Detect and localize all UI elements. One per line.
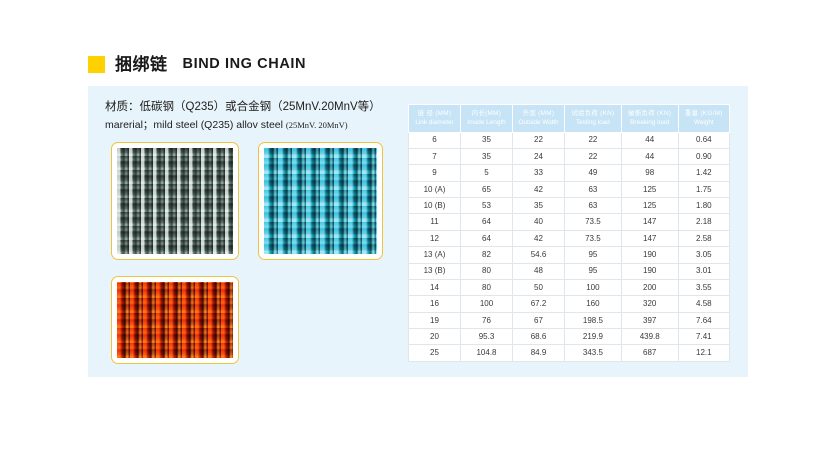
table-cell: 1.42 [678, 165, 729, 181]
table-cell: 0.90 [678, 148, 729, 164]
table-cell: 49 [565, 165, 622, 181]
table-column-header-0: 链 径 (MM)Link diameter [409, 105, 461, 133]
chain-texture [117, 148, 233, 254]
table-cell: 35 [461, 132, 513, 148]
material-spec-en-main: marerial；mild steel (Q235) allov steel [105, 119, 286, 131]
table-cell: 3.55 [678, 279, 729, 295]
table-column-header-en: Tesling load [566, 118, 620, 127]
table-cell: 190 [621, 263, 678, 279]
table-cell: 160 [565, 296, 622, 312]
table-cell: 95 [565, 263, 622, 279]
table-cell: 80 [461, 279, 513, 295]
table-cell: 2.58 [678, 230, 729, 246]
table-header-row: 链 径 (MM)Link diameter内长(MM)Inside Length… [409, 105, 730, 133]
table-cell: 20 [409, 329, 461, 345]
table-row: 13 (A)8254.6951903.05 [409, 247, 730, 263]
table-cell: 687 [621, 345, 678, 361]
table-cell: 98 [621, 165, 678, 181]
table-column-header-2: 外宽 (MM)Outside Width [513, 105, 565, 133]
table-cell: 44 [621, 132, 678, 148]
table-cell: 3.01 [678, 263, 729, 279]
table-column-header-cn: 试验负荷 (KN) [566, 109, 620, 118]
table-cell: 397 [621, 312, 678, 328]
table-cell: 67.2 [513, 296, 565, 312]
galvanized-chain-photo [111, 142, 239, 260]
table-column-header-en: Link diameter [410, 118, 459, 127]
table-cell: 7.64 [678, 312, 729, 328]
table-cell: 42 [513, 181, 565, 197]
specification-table-head: 链 径 (MM)Link diameter内长(MM)Inside Length… [409, 105, 730, 133]
table-row: 197667198.53977.64 [409, 312, 730, 328]
table-cell: 95 [565, 247, 622, 263]
table-row: 25104.884.9343.568712.1 [409, 345, 730, 361]
cyan-coated-chain-photo-image [264, 148, 377, 254]
table-column-header-cn: 链 径 (MM) [410, 109, 459, 118]
cyan-coated-chain-photo [258, 142, 383, 260]
table-cell: 4.58 [678, 296, 729, 312]
table-cell: 73.5 [565, 214, 622, 230]
table-cell: 82 [461, 247, 513, 263]
table-cell: 14 [409, 279, 461, 295]
table-cell: 13 (A) [409, 247, 461, 263]
table-cell: 2.18 [678, 214, 729, 230]
table-cell: 125 [621, 198, 678, 214]
specification-table: 链 径 (MM)Link diameter内长(MM)Inside Length… [408, 104, 730, 362]
table-column-header-cn: 重量 (KG/M) [680, 109, 728, 118]
table-row: 953349981.42 [409, 165, 730, 181]
galvanized-chain-photo-image [117, 148, 233, 254]
table-cell: 10 (A) [409, 181, 461, 197]
table-cell: 54.6 [513, 247, 565, 263]
table-cell: 9 [409, 165, 461, 181]
table-cell: 68.6 [513, 329, 565, 345]
table-cell: 6 [409, 132, 461, 148]
table-cell: 12 [409, 230, 461, 246]
table-column-header-en: Outside Width [514, 118, 563, 127]
table-cell: 10 (B) [409, 198, 461, 214]
table-cell: 63 [565, 198, 622, 214]
table-cell: 73.5 [565, 230, 622, 246]
table-cell: 125 [621, 181, 678, 197]
table-cell: 42 [513, 230, 565, 246]
red-coated-chain-photo-image [117, 282, 233, 358]
table-cell: 104.8 [461, 345, 513, 361]
material-spec-cn: 材质：低碳钢（Q235）或合金钢（25MnV.20MnV等） [105, 99, 405, 117]
table-cell: 12.1 [678, 345, 729, 361]
table-cell: 343.5 [565, 345, 622, 361]
table-cell: 48 [513, 263, 565, 279]
table-cell: 16 [409, 296, 461, 312]
table-cell: 100 [461, 296, 513, 312]
table-row: 10 (B)5335631251.80 [409, 198, 730, 214]
table-cell: 100 [565, 279, 622, 295]
table-column-header-1: 内长(MM)Inside Length [461, 105, 513, 133]
table-cell: 200 [621, 279, 678, 295]
table-column-header-cn: 外宽 (MM) [514, 109, 563, 118]
table-cell: 19 [409, 312, 461, 328]
table-row: 7352422440.90 [409, 148, 730, 164]
table-cell: 76 [461, 312, 513, 328]
table-cell: 13 (B) [409, 263, 461, 279]
page-title-en: BIND ING CHAIN [183, 57, 307, 72]
table-cell: 80 [461, 263, 513, 279]
table-column-header-en: Weight [680, 118, 728, 127]
table-row: 13 (B)8048951903.01 [409, 263, 730, 279]
table-column-header-4: 破断负荷 (KN)Breaking load [621, 105, 678, 133]
page-title-cn: 捆绑链 [115, 56, 168, 73]
table-row: 11644073.51472.18 [409, 214, 730, 230]
table-cell: 22 [565, 148, 622, 164]
table-cell: 33 [513, 165, 565, 181]
table-cell: 53 [461, 198, 513, 214]
table-column-header-en: Inside Length [462, 118, 511, 127]
table-cell: 84.9 [513, 345, 565, 361]
red-coated-chain-photo [111, 276, 239, 364]
page-title: 捆绑链 BIND ING CHAIN [88, 56, 306, 73]
table-cell: 147 [621, 214, 678, 230]
table-cell: 35 [513, 198, 565, 214]
table-cell: 320 [621, 296, 678, 312]
table-cell: 11 [409, 214, 461, 230]
title-bullet-icon [88, 56, 105, 73]
table-column-header-cn: 内长(MM) [462, 109, 511, 118]
table-cell: 1.80 [678, 198, 729, 214]
table-row: 12644273.51472.58 [409, 230, 730, 246]
table-cell: 22 [565, 132, 622, 148]
table-cell: 3.05 [678, 247, 729, 263]
table-row: 6352222440.64 [409, 132, 730, 148]
table-cell: 7.41 [678, 329, 729, 345]
table-cell: 64 [461, 230, 513, 246]
table-cell: 50 [513, 279, 565, 295]
table-column-header-3: 试验负荷 (KN)Tesling load [565, 105, 622, 133]
table-cell: 44 [621, 148, 678, 164]
table-column-header-5: 重量 (KG/M)Weight [678, 105, 729, 133]
table-row: 1480501002003.55 [409, 279, 730, 295]
table-column-header-en: Breaking load [623, 118, 677, 127]
content-panel: 材质：低碳钢（Q235）或合金钢（25MnV.20MnV等） marerial；… [88, 86, 748, 377]
material-spec-en: marerial；mild steel (Q235) allov steel (… [105, 117, 405, 133]
material-spec-en-grades: (25MnV. 20MnV) [286, 120, 348, 130]
table-cell: 25 [409, 345, 461, 361]
table-row: 2095.368.6219.9439.87.41 [409, 329, 730, 345]
table-cell: 198.5 [565, 312, 622, 328]
table-cell: 22 [513, 132, 565, 148]
chain-texture [264, 148, 377, 254]
specification-table-body: 6352222440.647352422440.90953349981.4210… [409, 132, 730, 361]
table-column-header-cn: 破断负荷 (KN) [623, 109, 677, 118]
chain-texture [117, 282, 233, 358]
table-cell: 65 [461, 181, 513, 197]
material-spec-block: 材质：低碳钢（Q235）或合金钢（25MnV.20MnV等） marerial；… [105, 99, 405, 133]
table-row: 1610067.21603204.58 [409, 296, 730, 312]
table-cell: 64 [461, 214, 513, 230]
table-cell: 95.3 [461, 329, 513, 345]
table-cell: 1.75 [678, 181, 729, 197]
table-cell: 190 [621, 247, 678, 263]
table-cell: 439.8 [621, 329, 678, 345]
table-cell: 219.9 [565, 329, 622, 345]
table-cell: 35 [461, 148, 513, 164]
table-row: 10 (A)6542631251.75 [409, 181, 730, 197]
table-cell: 67 [513, 312, 565, 328]
table-cell: 7 [409, 148, 461, 164]
table-cell: 63 [565, 181, 622, 197]
table-cell: 5 [461, 165, 513, 181]
table-cell: 40 [513, 214, 565, 230]
table-cell: 0.64 [678, 132, 729, 148]
table-cell: 147 [621, 230, 678, 246]
table-cell: 24 [513, 148, 565, 164]
